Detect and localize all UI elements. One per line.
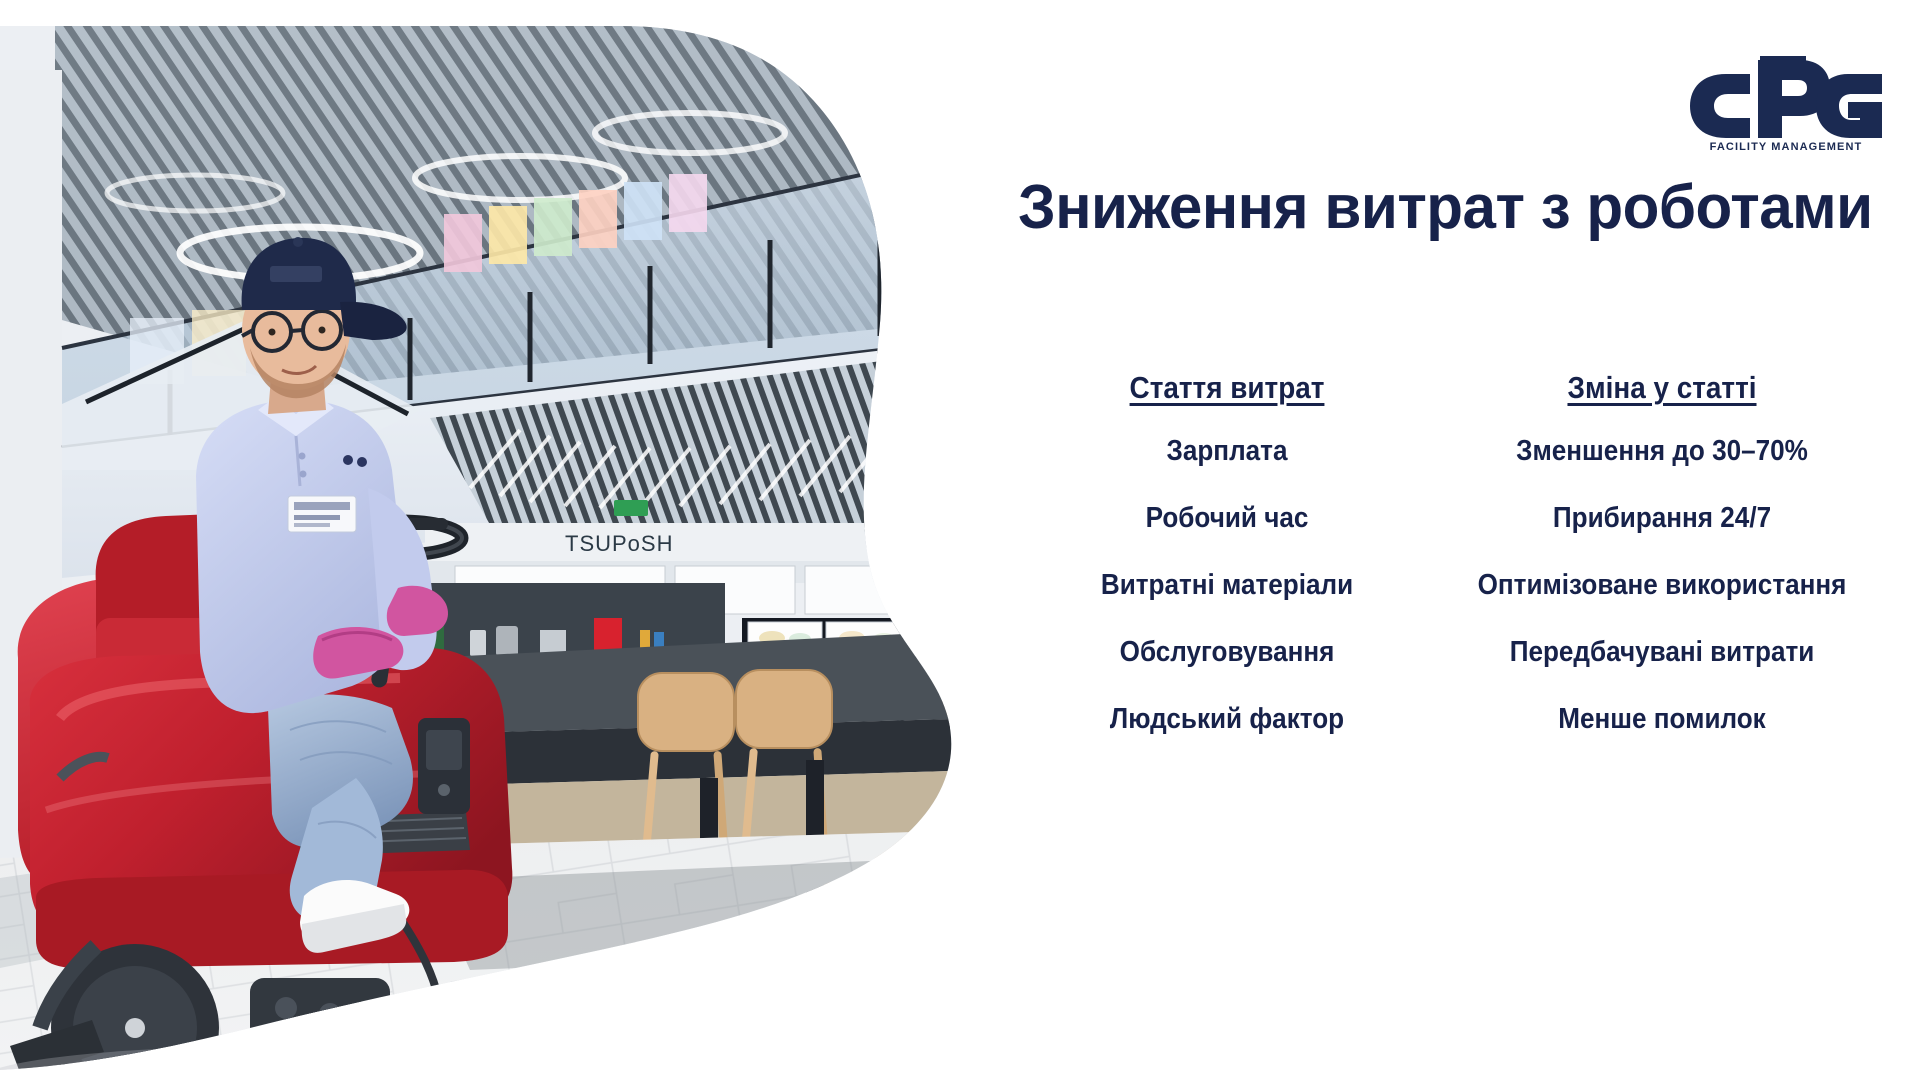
cell-change: Оптимізоване використання (1455, 570, 1869, 601)
cell-item: Людський фактор (1043, 704, 1412, 735)
hero-photo-illustration: TSUPoSH (0, 18, 985, 1080)
cpg-logo: FACILITY MANAGEMENT (1688, 56, 1884, 168)
table-row: Зарплата Зменшення до 30–70% (1022, 436, 1892, 503)
cpg-wordmark-icon (1688, 56, 1884, 138)
table-row: Робочий час Прибирання 24/7 (1022, 503, 1892, 570)
cell-item: Витратні матеріали (1043, 570, 1412, 601)
cell-change: Передбачувані витрати (1455, 637, 1869, 668)
cost-comparison-table: Стаття витрат Зміна у статті Зарплата Зм… (1022, 372, 1892, 771)
column-header-change: Зміна у статті (1455, 372, 1869, 405)
table-row: Людський фактор Менше помилок (1022, 704, 1892, 771)
cell-change: Прибирання 24/7 (1455, 503, 1869, 534)
column-header-item: Стаття витрат (1043, 372, 1412, 405)
slide-root: TSUPoSH (0, 0, 1920, 1080)
cell-item: Зарплата (1043, 436, 1412, 467)
table-header-row: Стаття витрат Зміна у статті (1022, 372, 1892, 436)
food-court-sign-text: TSUPoSH (565, 531, 673, 556)
cell-item: Обслуговування (1043, 637, 1412, 668)
cell-change: Менше помилок (1455, 704, 1869, 735)
table-row: Обслуговування Передбачувані витрати (1022, 637, 1892, 704)
cell-change: Зменшення до 30–70% (1455, 436, 1869, 467)
logo-tagline: FACILITY MANAGEMENT (1688, 141, 1884, 153)
page-title: Зниження витрат з роботами (1018, 172, 1852, 243)
table-row: Витратні матеріали Оптимізоване використ… (1022, 570, 1892, 637)
hero-photo: TSUPoSH (0, 18, 985, 1080)
cell-item: Робочий час (1043, 503, 1412, 534)
